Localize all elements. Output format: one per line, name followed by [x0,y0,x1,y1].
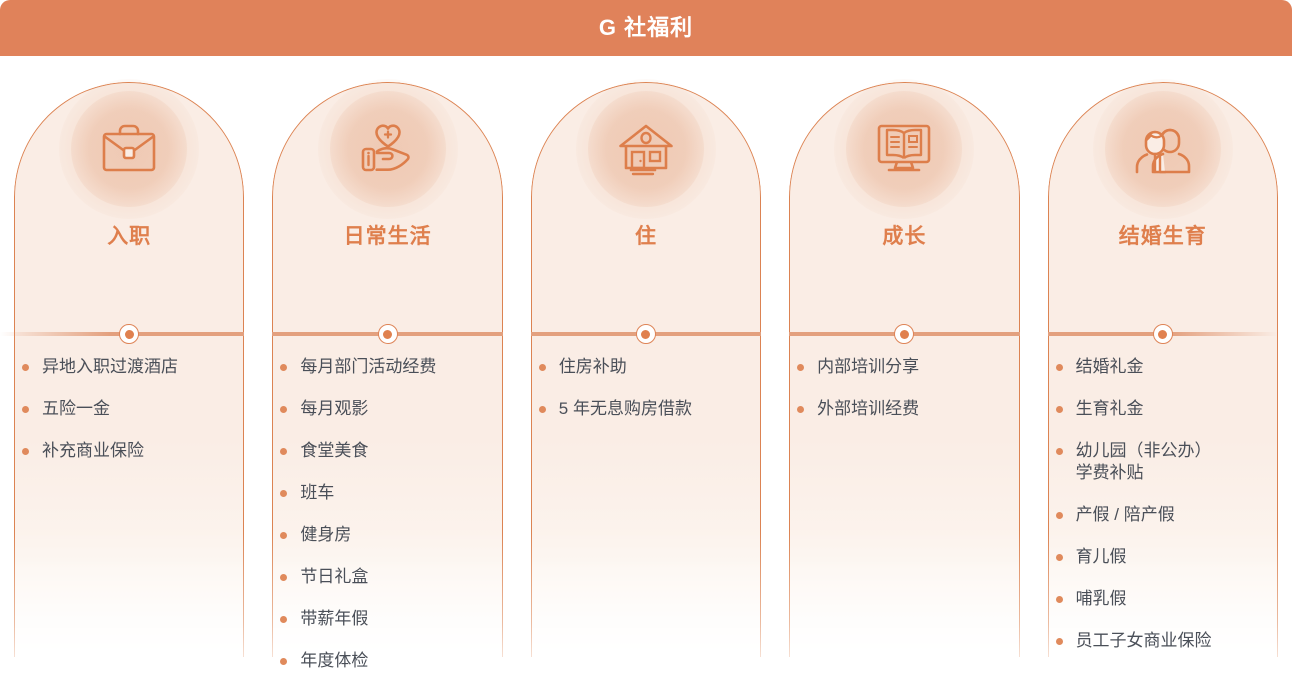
bullet-dot-icon [1056,512,1063,519]
list-item: 5 年无息购房借款 [531,398,769,420]
column-title: 结婚生育 [1034,220,1292,250]
timeline-node [378,324,398,344]
list-item-label: 住房补助 [559,356,627,378]
list-item-label: 年度体检 [300,650,368,672]
heart-in-hand-icon [355,120,421,178]
connector-gap [761,332,789,336]
bullet-dot-icon [797,364,804,371]
icon-container [517,90,775,208]
list-item-label: 补充商业保险 [42,440,144,462]
list-item-label: 内部培训分享 [817,356,919,378]
bullet-dot-icon [797,406,804,413]
list-item-label: 班车 [300,482,334,504]
bullet-dot-icon [280,532,287,539]
list-item-label: 产假 / 陪产假 [1076,504,1175,526]
list-item-label: 5 年无息购房借款 [559,398,692,420]
list-item: 异地入职过渡酒店 [14,356,252,378]
list-item: 生育礼金 [1048,398,1286,420]
benefit-list: 结婚礼金 生育礼金 幼儿园（非公办） 学费补贴 产假 / 陪产假 育儿假 哺乳假 [1048,356,1286,672]
timeline-node [1153,324,1173,344]
bullet-dot-icon [1056,596,1063,603]
house-icon [615,120,677,178]
list-item: 育儿假 [1048,546,1286,568]
list-item: 节日礼盒 [272,566,510,588]
list-item: 产假 / 陪产假 [1048,504,1286,526]
benefit-list: 异地入职过渡酒店 五险一金 补充商业保险 [14,356,252,482]
icon-halo [588,91,704,207]
bullet-dot-icon [22,364,29,371]
benefit-list: 住房补助 5 年无息购房借款 [531,356,769,440]
bullet-dot-icon [22,406,29,413]
connector-gap [503,332,531,336]
benefit-column-growth[interactable]: 成长 内部培训分享 外部培训经费 [775,56,1033,657]
icon-halo [846,91,962,207]
benefit-column-onboarding[interactable]: 入职 异地入职过渡酒店 五险一金 补充商业保险 [0,56,258,657]
bullet-dot-icon [1056,554,1063,561]
benefit-columns: 入职 异地入职过渡酒店 五险一金 补充商业保险 [0,56,1292,657]
list-item-label: 外部培训经费 [817,398,919,420]
list-item: 班车 [272,482,510,504]
list-item: 结婚礼金 [1048,356,1286,378]
list-item-label: 育儿假 [1076,546,1127,568]
list-item: 住房补助 [531,356,769,378]
bullet-dot-icon [280,490,287,497]
column-title: 入职 [0,220,258,250]
icon-container [775,90,1033,208]
header-bar: G 社福利 [0,0,1292,56]
timeline-node [894,324,914,344]
briefcase-icon [98,120,160,178]
monitor-book-icon [873,120,935,178]
list-item: 带薪年假 [272,608,510,630]
list-item-label: 食堂美食 [300,440,368,462]
icon-halo [330,91,446,207]
bullet-dot-icon [1056,406,1063,413]
list-item: 每月部门活动经费 [272,356,510,378]
icon-container [0,90,258,208]
benefit-list: 每月部门活动经费 每月观影 食堂美食 班车 健身房 节日礼盒 [272,356,510,692]
benefit-column-marriage-parenting[interactable]: 结婚生育 结婚礼金 生育礼金 幼儿园（非公办） 学费补贴 产假 / 陪产假 育儿… [1034,56,1292,657]
list-item: 内部培训分享 [789,356,1027,378]
list-item: 员工子女商业保险 [1048,630,1286,652]
icon-container [258,90,516,208]
list-item: 食堂美食 [272,440,510,462]
list-item-label: 哺乳假 [1076,588,1127,610]
list-item: 补充商业保险 [14,440,252,462]
list-item-label: 幼儿园（非公办） 学费补贴 [1076,440,1212,484]
list-item-label: 异地入职过渡酒店 [42,356,178,378]
list-item: 年度体检 [272,650,510,672]
list-item: 每月观影 [272,398,510,420]
icon-halo [1105,91,1221,207]
list-item-label: 健身房 [300,524,351,546]
benefit-column-housing[interactable]: 住 住房补助 5 年无息购房借款 [517,56,775,657]
list-item-label: 五险一金 [42,398,110,420]
column-title: 成长 [775,220,1033,250]
bullet-dot-icon [1056,638,1063,645]
list-item: 外部培训经费 [789,398,1027,420]
bullet-dot-icon [280,658,287,665]
icon-halo [71,91,187,207]
bullet-dot-icon [280,574,287,581]
bullet-dot-icon [280,448,287,455]
list-item-label: 节日礼盒 [300,566,368,588]
bullet-dot-icon [539,364,546,371]
column-title: 住 [517,220,775,250]
icon-container [1034,90,1292,208]
bullet-dot-icon [539,406,546,413]
bullet-dot-icon [280,364,287,371]
page-title: G 社福利 [599,17,693,39]
list-item-label: 带薪年假 [300,608,368,630]
connector-gap [1020,332,1048,336]
list-item-label: 每月部门活动经费 [300,356,436,378]
bullet-dot-icon [1056,448,1063,455]
list-item-label: 结婚礼金 [1076,356,1144,378]
bullet-dot-icon [1056,364,1063,371]
bullet-dot-icon [280,616,287,623]
column-title: 日常生活 [258,220,516,250]
list-item-label: 每月观影 [300,398,368,420]
list-item: 五险一金 [14,398,252,420]
connector-gap [244,332,272,336]
list-item: 健身房 [272,524,510,546]
bullet-dot-icon [280,406,287,413]
list-item-label: 员工子女商业保险 [1076,630,1212,652]
timeline-node [636,324,656,344]
list-item: 幼儿园（非公办） 学费补贴 [1048,440,1286,484]
benefit-list: 内部培训分享 外部培训经费 [789,356,1027,440]
bullet-dot-icon [22,448,29,455]
timeline-node [119,324,139,344]
list-item-label: 生育礼金 [1076,398,1144,420]
list-item: 哺乳假 [1048,588,1286,610]
benefit-column-daily-life[interactable]: 日常生活 每月部门活动经费 每月观影 食堂美食 班车 健身房 [258,56,516,657]
couple-icon [1130,120,1196,178]
